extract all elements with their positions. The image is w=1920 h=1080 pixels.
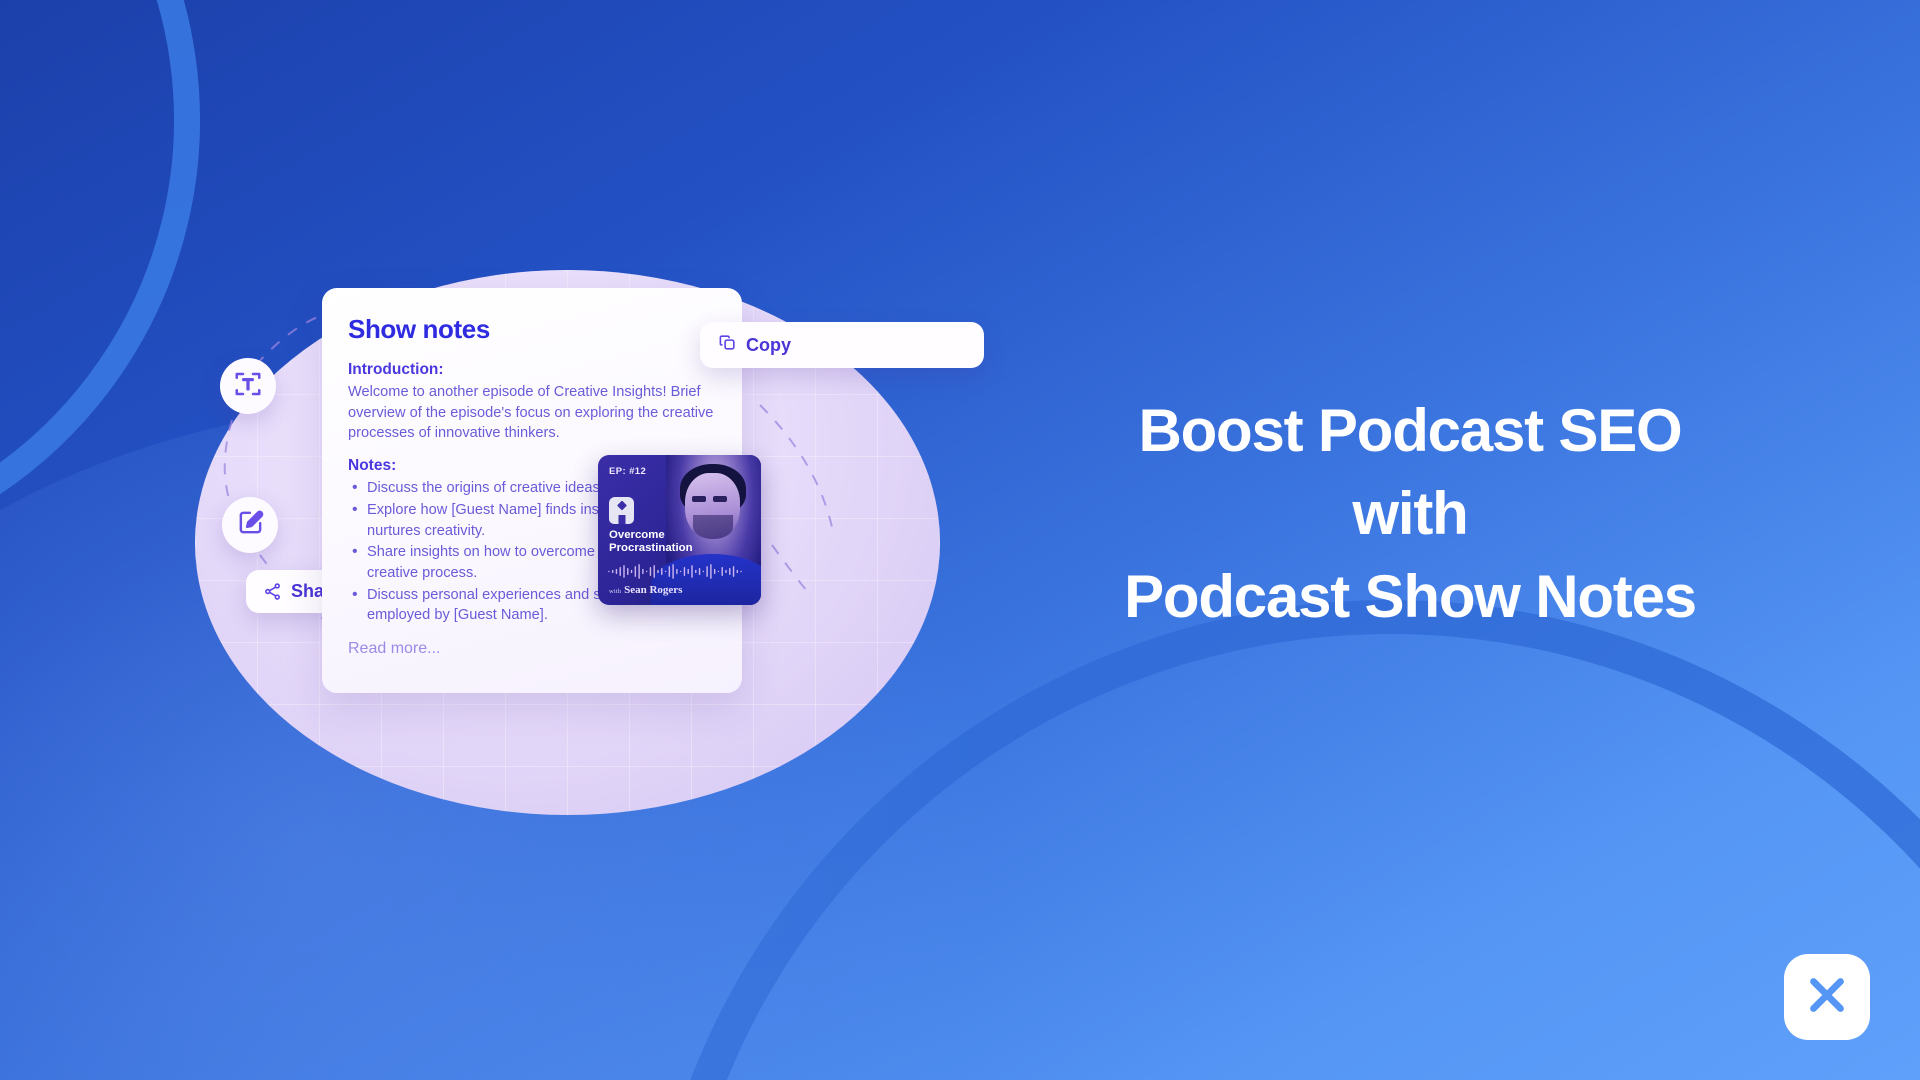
page-title: Boost Podcast SEO with Podcast Show Note… <box>990 390 1830 638</box>
episode-title: Overcome Procrastination <box>609 529 705 555</box>
text-tool-icon <box>233 369 263 404</box>
introduction-body: Welcome to another episode of Creative I… <box>348 382 718 444</box>
host-name: Sean Rogers <box>624 584 682 596</box>
copy-button[interactable]: Copy <box>700 322 984 368</box>
introduction-heading: Introduction: <box>348 361 718 379</box>
brand-logo-badge[interactable] <box>1784 954 1870 1040</box>
episode-overlay: EP: #12 Overcome Procrastination with Se… <box>598 455 761 605</box>
text-tool-button[interactable] <box>220 358 276 414</box>
copy-icon <box>718 333 737 357</box>
episode-number: EP: #12 <box>609 466 646 477</box>
headline-line-2: with <box>990 473 1830 556</box>
x-logo-icon <box>1800 968 1854 1027</box>
share-nodes-icon <box>263 582 282 601</box>
illustration-group: Share Show notes Introduction: Welcome t… <box>160 215 940 815</box>
read-more-link[interactable]: Read more... <box>348 640 718 658</box>
episode-host: with Sean Rogers <box>609 584 682 596</box>
copy-button-label: Copy <box>746 335 791 356</box>
host-prefix: with <box>609 588 621 595</box>
podcast-logo-icon <box>609 497 634 524</box>
headline-line-3: Podcast Show Notes <box>990 556 1830 639</box>
episode-thumbnail-card[interactable]: EP: #12 Overcome Procrastination with Se… <box>598 455 761 605</box>
headline-line-1: Boost Podcast SEO <box>990 390 1830 473</box>
edit-tool-button[interactable] <box>222 497 278 553</box>
edit-pencil-icon <box>236 508 265 542</box>
audio-waveform-icon <box>607 563 744 580</box>
card-title: Show notes <box>348 314 718 345</box>
